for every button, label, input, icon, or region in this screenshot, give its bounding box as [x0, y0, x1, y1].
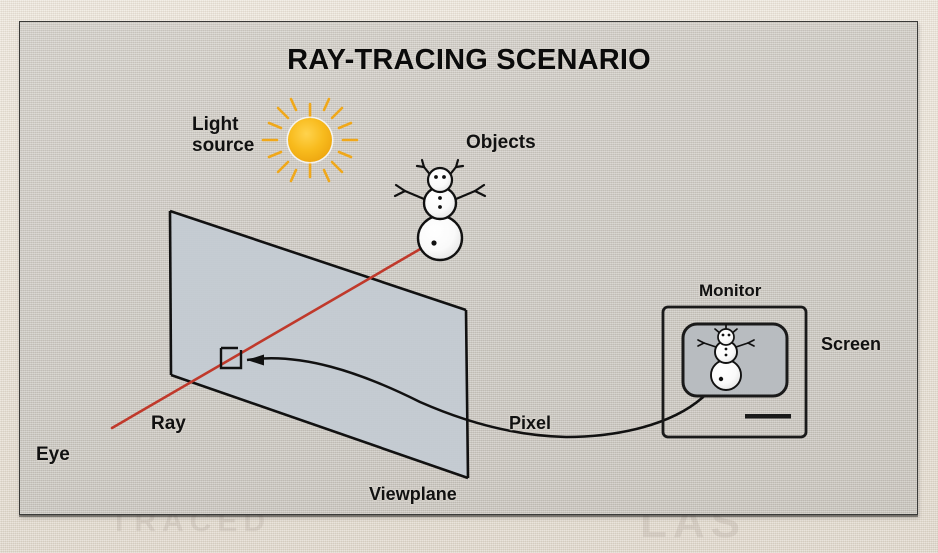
label-light-source: Light source: [192, 114, 254, 157]
ray-tracing-diagram: [0, 0, 938, 553]
label-monitor: Monitor: [699, 281, 761, 300]
label-ray: Ray: [151, 413, 186, 434]
monitor-icon: [663, 307, 806, 437]
sun-icon: [263, 99, 357, 181]
snowman-icon: [395, 160, 485, 260]
label-pixel: Pixel: [509, 413, 551, 433]
label-screen: Screen: [821, 334, 881, 354]
label-objects: Objects: [466, 132, 536, 153]
label-viewplane: Viewplane: [369, 484, 457, 504]
figure-title: RAY-TRACING SCENARIO: [0, 44, 938, 77]
label-eye: Eye: [36, 444, 70, 465]
figure-page: IMAGE LAS TRACED: [0, 0, 938, 553]
